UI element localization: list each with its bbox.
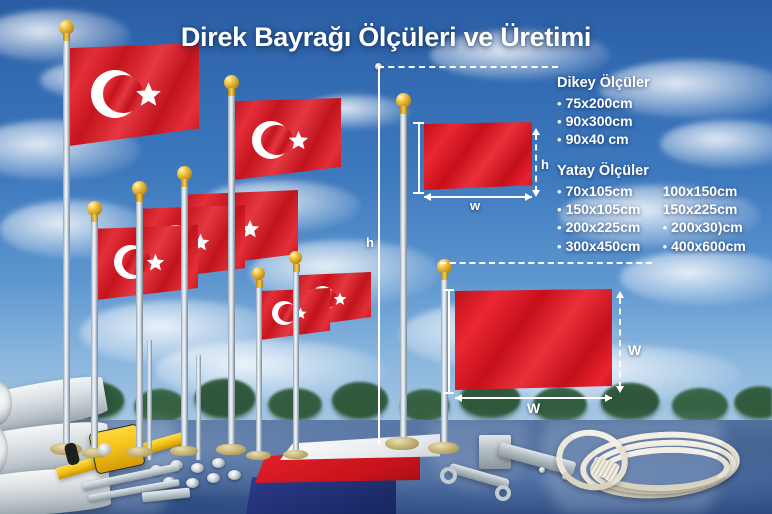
pole-finial-icon (177, 166, 192, 181)
dim-arrow (616, 386, 624, 393)
dim-arrow (532, 128, 540, 135)
dim-arrow (525, 193, 532, 201)
pole-base (385, 437, 419, 450)
bolt (207, 473, 220, 483)
horizontal-size-value: 200x30)cm (671, 218, 743, 236)
flag-pole (196, 355, 201, 460)
star-icon (333, 292, 347, 306)
dim-arrow (455, 394, 462, 402)
pole-finial-icon (87, 201, 102, 216)
bullet-icon: • (557, 96, 562, 111)
list-item: • 90x300cm (557, 112, 650, 130)
bullet-icon: • (557, 184, 562, 199)
bolt (212, 458, 225, 468)
pole-finial-icon (132, 181, 147, 196)
flag-pole (293, 262, 299, 457)
pole-base (126, 447, 153, 457)
guide-line-top (378, 66, 558, 68)
dim-line-bottom-lower (455, 397, 612, 399)
measure-flag-lower (455, 289, 612, 390)
infographic-canvas: w h h W W Direk Bayrağı Ölçüleri ve Üret… (0, 0, 772, 514)
flag-pole (256, 278, 262, 458)
horizontal-sizes-block: Yatay Ölçüler • 70x105cm 100x150cm • 150… (557, 163, 746, 255)
list-item: • 75x200cm (557, 94, 650, 112)
bullet-icon: • (557, 202, 562, 217)
bolt (228, 470, 241, 480)
dim-tick (443, 289, 454, 291)
vertical-sizes-block: Dikey Ölçüler • 75x200cm • 90x300cm • 90… (557, 75, 650, 149)
vertical-size-value: 75x200cm (566, 94, 633, 112)
dim-tick (413, 192, 424, 194)
flag-pole (147, 340, 152, 460)
horizontal-size-value: 100x150cm (663, 182, 738, 200)
pole-finial-icon (396, 93, 411, 108)
flag-pole (63, 32, 70, 452)
pole-base (246, 451, 271, 460)
crescent-icon (252, 121, 290, 159)
dim-arrow (616, 291, 624, 298)
dim-line-pole-height (378, 66, 380, 445)
horizontal-size-value: 150x225cm (663, 200, 738, 218)
dim-tick (443, 392, 454, 394)
dim-line-right-upper (535, 134, 537, 192)
vertical-size-value: 90x40 cm (566, 130, 629, 148)
pole-base (428, 442, 459, 454)
pole-base (283, 450, 308, 459)
bullet-icon: • (557, 220, 562, 235)
bullet-icon: • (557, 132, 562, 147)
dim-arrow (605, 394, 612, 402)
dim-label-w-upper: w (470, 199, 480, 212)
bullet-icon: • (557, 239, 562, 254)
vertical-size-value: 90x300cm (566, 112, 633, 130)
flag-pole (136, 193, 143, 453)
dim-line-left-lower (448, 289, 450, 394)
horizontal-size-value: 300x450cm (566, 237, 663, 255)
bullet-icon: • (663, 220, 668, 235)
dim-arrow (424, 193, 431, 201)
pole-finial-icon (224, 75, 239, 90)
list-item: • 90x40 cm (557, 130, 650, 148)
dim-label-pole-height: h (366, 236, 374, 249)
pole-finial-icon (289, 251, 302, 264)
list-item: • 70x105cm 100x150cm (557, 182, 746, 200)
star-icon (146, 253, 165, 272)
dim-label-w-lower: W (527, 401, 540, 415)
crescent-icon (91, 70, 139, 118)
wrench-ring-icon (495, 485, 511, 501)
pole-base (216, 444, 246, 455)
blueprint-roll (0, 466, 111, 514)
turkish-flag (69, 43, 199, 146)
star-icon (288, 130, 309, 151)
flag-pole (228, 87, 235, 452)
flag-pole (91, 213, 98, 455)
turkish-flag (233, 98, 341, 180)
list-item: • 300x450cm • 400x600cm (557, 237, 746, 255)
horizontal-sizes-heading: Yatay Ölçüler (557, 163, 746, 179)
pole-base (170, 446, 198, 456)
bullet-icon: • (557, 114, 562, 129)
star-icon (135, 81, 162, 108)
pole-finial-icon (252, 267, 265, 280)
bracket-bolt (539, 467, 545, 473)
measure-flag-upper (424, 122, 532, 190)
dim-line-right-lower (619, 298, 621, 388)
list-item: • 150x105cm 150x225cm (557, 200, 746, 218)
horizontal-size-value: 200x225cm (566, 218, 663, 236)
dim-arrow (532, 190, 540, 197)
dim-label-h-lower: W (628, 343, 641, 357)
bolt (186, 478, 199, 488)
dim-line-left-upper (418, 122, 420, 194)
guide-line-mid (440, 262, 652, 264)
bolt (191, 463, 204, 473)
tape-measure-hub (98, 443, 111, 456)
flag-pole (441, 270, 448, 450)
horizontal-size-value: 70x105cm (566, 182, 663, 200)
flag-pole (181, 178, 188, 453)
bullet-icon: • (663, 239, 668, 254)
vertical-sizes-heading: Dikey Ölçüler (557, 75, 650, 91)
list-item: • 200x225cm • 200x30)cm (557, 218, 746, 236)
dim-label-h-upper: h (541, 158, 549, 171)
horizontal-size-value: 400x600cm (671, 237, 746, 255)
dim-tick (413, 122, 424, 124)
page-title: Direk Bayrağı Ölçüleri ve Üretimi (0, 22, 772, 53)
horizontal-size-value: 150x105cm (566, 200, 663, 218)
